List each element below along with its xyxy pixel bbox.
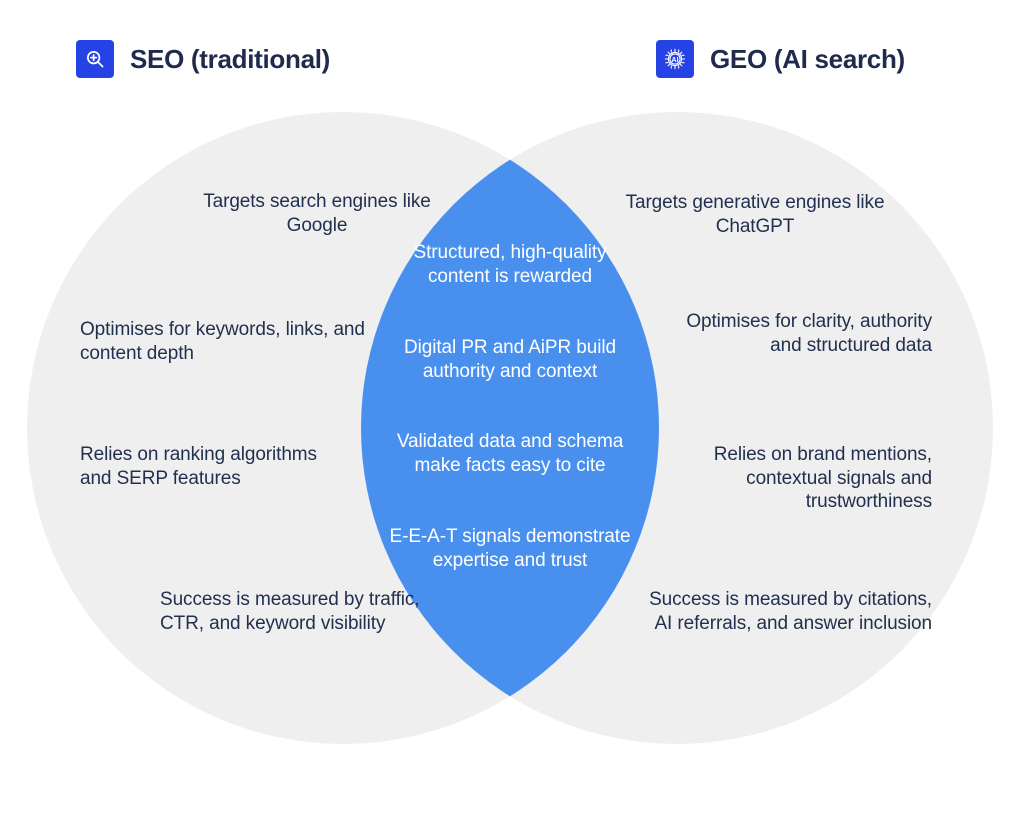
venn-svg xyxy=(0,0,1024,818)
left-item-2: Relies on ranking algorithms and SERP fe… xyxy=(80,443,340,490)
right-item-2: Relies on brand mentions, contextual sig… xyxy=(650,443,932,514)
center-item-1: Digital PR and AiPR build authority and … xyxy=(385,336,635,383)
right-item-0: Targets generative engines like ChatGPT xyxy=(610,191,900,238)
center-item-0: Structured, high-quality content is rewa… xyxy=(385,241,635,288)
left-item-3: Success is measured by traffic, CTR, and… xyxy=(160,588,440,635)
right-item-1: Optimises for clarity, authority and str… xyxy=(660,310,932,357)
center-item-2: Validated data and schema make facts eas… xyxy=(385,430,635,477)
venn-diagram-page: SEO (traditional) xyxy=(0,0,1024,818)
left-item-0: Targets search engines like Google xyxy=(192,190,442,237)
center-item-3: E-E-A-T signals demonstrate expertise an… xyxy=(385,525,635,572)
right-item-3: Success is measured by citations, AI ref… xyxy=(640,588,932,635)
left-item-1: Optimises for keywords, links, and conte… xyxy=(80,318,370,365)
venn-shapes xyxy=(0,0,1024,818)
